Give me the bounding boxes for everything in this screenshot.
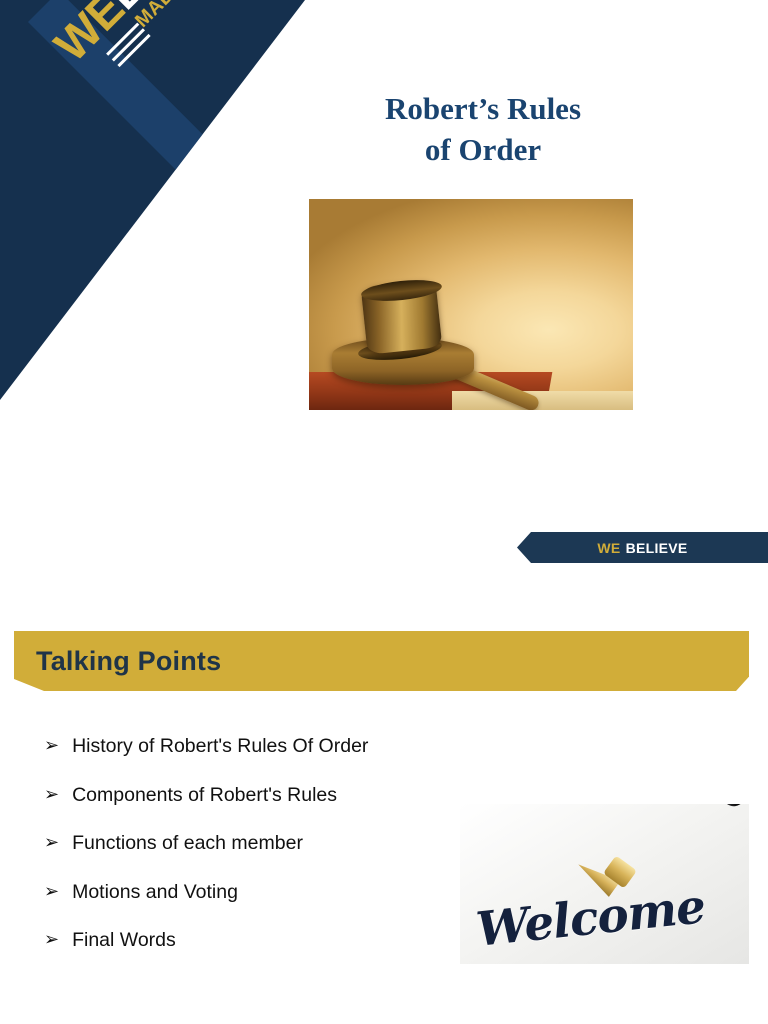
list-item-label: Components of Robert's Rules (72, 782, 444, 809)
page-title-line-1: Robert’s Rules (385, 91, 581, 126)
bullet-arrow-icon: ➢ (44, 782, 59, 808)
talking-points-heading: Talking Points (36, 646, 221, 677)
list-item-label: Final Words (72, 927, 444, 954)
list-item-label: History of Robert's Rules Of Order (72, 733, 444, 760)
talking-points-banner: Talking Points (14, 631, 749, 691)
gavel-desk-surface-light (452, 391, 633, 410)
welcome-image: Welcome (460, 804, 749, 964)
list-item: ➢ History of Robert's Rules Of Order (44, 733, 444, 760)
page-title: Robert’s Rules of Order (318, 88, 648, 170)
gavel-image (309, 199, 633, 410)
list-item: ➢ Motions and Voting (44, 879, 444, 906)
bullet-arrow-icon: ➢ (44, 830, 59, 856)
ribbon-we-text: WE (597, 540, 620, 556)
presentation-page: WEBELIEVE MADERAUNIFIED Robert’s Rules o… (0, 0, 768, 1024)
list-item: ➢ Components of Robert's Rules (44, 782, 444, 809)
page-title-line-2: of Order (425, 132, 541, 167)
talking-points-list: ➢ History of Robert's Rules Of Order ➢ C… (44, 733, 444, 976)
list-item: ➢ Functions of each member (44, 830, 444, 857)
list-item-label: Functions of each member (72, 830, 444, 857)
list-item-label: Motions and Voting (72, 879, 444, 906)
bullet-arrow-icon: ➢ (44, 927, 59, 953)
slide-talking-points: Talking Points ➢ History of Robert's Rul… (0, 600, 768, 1024)
list-item: ➢ Final Words (44, 927, 444, 954)
bullet-arrow-icon: ➢ (44, 879, 59, 905)
we-believe-ribbon: WE BELIEVE (517, 532, 768, 563)
bullet-arrow-icon: ➢ (44, 733, 59, 759)
slide-title: WEBELIEVE MADERAUNIFIED Robert’s Rules o… (0, 0, 768, 600)
ribbon-believe-text: BELIEVE (626, 540, 688, 556)
